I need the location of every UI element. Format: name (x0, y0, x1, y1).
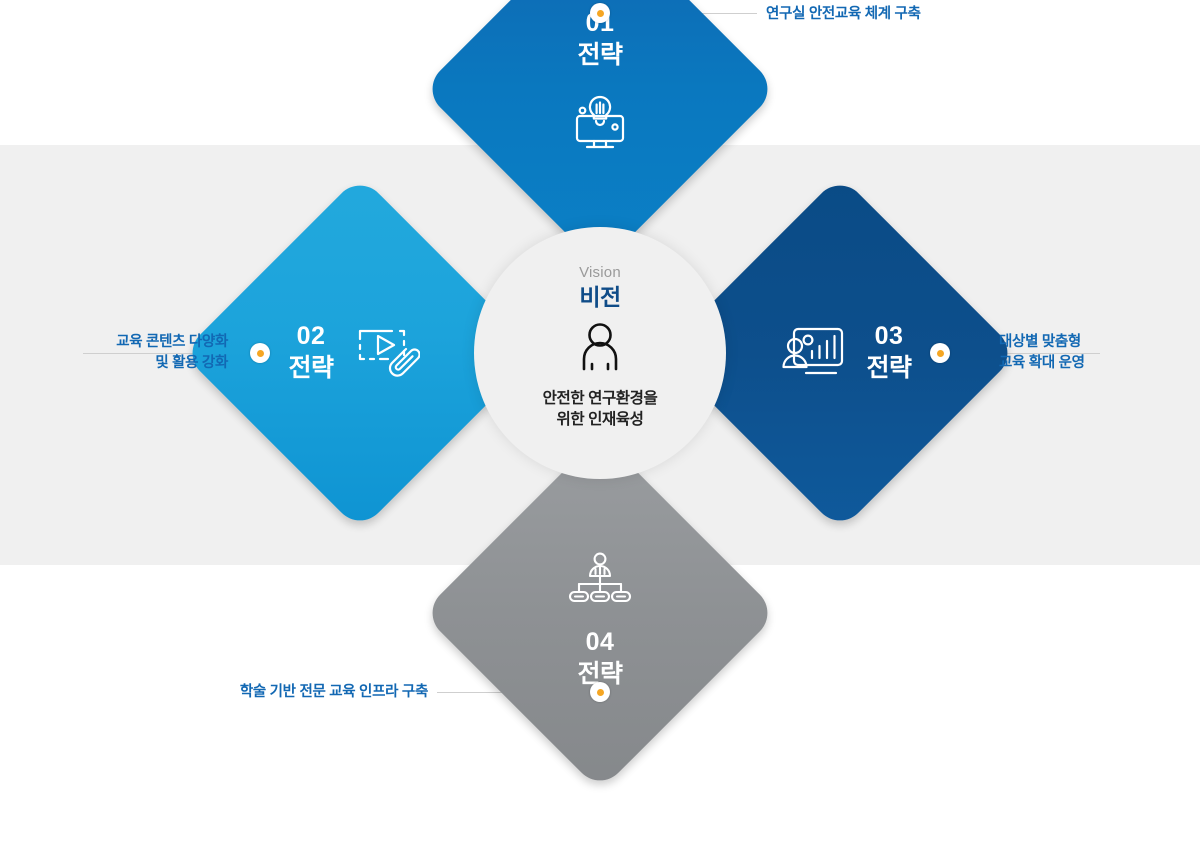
strategy-03-keyword: 전략 (866, 351, 911, 385)
strategy-02-keyword: 전략 (288, 351, 333, 385)
connector-dot-03[interactable] (930, 343, 950, 363)
video-attachment-icon (348, 320, 420, 386)
person-icon (572, 321, 628, 382)
callout-label-02: 교육 콘텐츠 다양화 및 활용 강화 (0, 332, 228, 374)
vision-description: 안전한 연구환경을 위한 인재육성 (543, 388, 658, 430)
monitor-lightbulb-icon (565, 88, 635, 158)
callout-label-04: 학술 기반 전문 교육 인프라 구축 (0, 682, 428, 703)
callout-label-02-line2: 및 활용 강화 (0, 353, 228, 374)
vision-strategy-diagram: 01 전략 (0, 0, 1200, 708)
callout-label-02-line1: 교육 콘텐츠 다양화 (0, 332, 228, 353)
callout-label-01: 연구실 안전교육 체계 구축 (766, 4, 921, 25)
strategy-02-number: 02 (297, 321, 326, 351)
vision-description-line2: 위한 인재육성 (556, 411, 643, 428)
connector-dot-02[interactable] (250, 343, 270, 363)
strategy-01-keyword: 전략 (577, 38, 622, 72)
vision-label-ko: 비전 (579, 283, 620, 311)
vision-description-line1: 안전한 연구환경을 (543, 390, 658, 407)
callout-label-03: 대상별 맞춤형 교육 확대 운영 (999, 332, 1199, 374)
callout-label-03-line1: 대상별 맞춤형 (999, 332, 1199, 353)
vision-label-en: Vision (579, 263, 621, 283)
strategy-03-number: 03 (875, 321, 904, 351)
presenter-chart-icon (780, 320, 850, 386)
strategy-04-number: 04 (586, 627, 615, 657)
strategy-diamond-04[interactable]: 04 전략 (422, 435, 778, 791)
org-chart-icon (568, 551, 632, 609)
callout-label-03-line2: 교육 확대 운영 (999, 353, 1199, 374)
connector-dot-04[interactable] (590, 682, 610, 702)
vision-circle: Vision 비전 안전한 연구환경을 위한 인재육성 (474, 227, 726, 479)
connector-dot-01[interactable] (590, 3, 610, 23)
